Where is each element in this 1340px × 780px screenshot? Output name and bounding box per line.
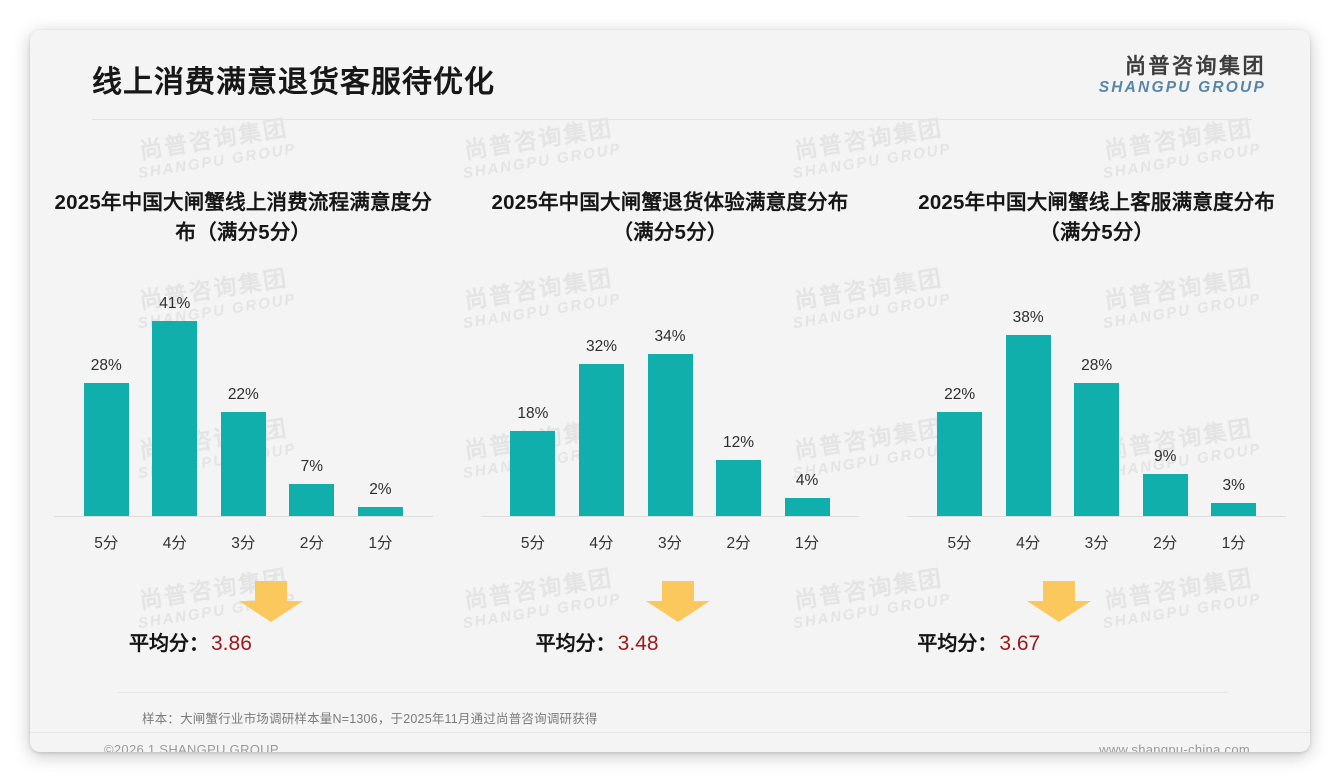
x-axis-tick-label: 3分 [1062,531,1131,553]
bar-group: 28%41%22%7%2% [72,283,415,517]
bar-value-label: 34% [654,328,685,346]
bar[interactable] [289,484,334,517]
bar-slot: 7% [278,283,347,517]
chart-plot-area: 28%41%22%7%2% [72,283,415,517]
bar[interactable] [221,412,266,517]
average-score-value: 3.86 [211,632,252,655]
chart-plot-area: 18%32%34%12%4% [499,283,842,517]
bar[interactable] [510,431,555,517]
bar-slot: 22% [209,283,278,517]
chart-plot-area: 22%38%28%9%3% [925,283,1268,517]
bar-value-label: 38% [1013,309,1044,327]
x-axis-tick-label: 5分 [72,531,141,553]
x-axis-line [54,516,433,517]
x-axis-tick-label: 3分 [636,531,705,553]
chart-title: 2025年中国大闸蟹线上消费流程满意度分布（满分5分） [44,142,443,249]
chart-title: 2025年中国大闸蟹线上客服满意度分布（满分5分） [897,142,1296,249]
bar-value-label: 3% [1223,477,1245,495]
average-score-text: 平均分：3.67 [917,627,1040,656]
bar-slot: 3% [1199,283,1268,517]
bar[interactable] [1006,335,1051,517]
x-axis-labels: 5分4分3分2分1分 [499,531,842,553]
arrow-head [239,601,303,622]
bar-slot: 34% [636,283,705,517]
brand-logo: 尚普咨询集团 SHANGPU GROUP [1099,55,1266,98]
slide-card: 尚普咨询集团SHANGPU GROUP尚普咨询集团SHANGPU GROUP尚普… [30,30,1310,752]
arrow-shaft [1043,581,1075,602]
chart-panel-2: 2025年中国大闸蟹退货体验满意度分布（满分5分）18%32%34%12%4%5… [457,142,884,667]
bar[interactable] [152,321,197,517]
bar-value-label: 22% [228,386,259,404]
bar[interactable] [579,364,624,517]
slide-header: 线上消费满意退货客服待优化 尚普咨询集团 SHANGPU GROUP [30,30,1310,119]
bar-value-label: 12% [723,434,754,452]
bar-slot: 38% [994,283,1063,517]
x-axis-labels: 5分4分3分2分1分 [72,531,415,553]
x-axis-tick-label: 4分 [567,531,636,553]
bar-slot: 28% [1062,283,1131,517]
bar-slot: 2% [346,283,415,517]
x-axis-tick-label: 2分 [1131,531,1200,553]
chart-title: 2025年中国大闸蟹退货体验满意度分布（满分5分） [471,142,870,249]
logo-chinese-text: 尚普咨询集团 [1099,55,1266,79]
average-score-block: 平均分：3.86 [44,581,443,667]
down-arrow-icon [239,581,303,621]
average-score-block: 平均分：3.48 [471,581,870,667]
bar-slot: 9% [1131,283,1200,517]
bar-slot: 32% [567,283,636,517]
header-divider [92,119,1252,120]
average-score-label: 平均分： [917,633,997,655]
x-axis-tick-label: 1分 [773,531,842,553]
chart-panel-3: 2025年中国大闸蟹线上客服满意度分布（满分5分）22%38%28%9%3%5分… [883,142,1310,667]
average-score-value: 3.48 [618,632,659,655]
bar[interactable] [1074,383,1119,517]
x-axis-labels: 5分4分3分2分1分 [925,531,1268,553]
average-score-block: 平均分：3.67 [897,581,1296,667]
footnote-divider [118,692,1228,693]
average-score-label: 平均分： [129,633,209,655]
bar-group: 22%38%28%9%3% [925,283,1268,517]
arrow-head [1027,601,1091,622]
bar-value-label: 2% [369,481,391,499]
x-axis-tick-label: 2分 [704,531,773,553]
x-axis-tick-label: 5分 [925,531,994,553]
bar-slot: 4% [773,283,842,517]
x-axis-tick-label: 2分 [278,531,347,553]
x-axis-tick-label: 5分 [499,531,568,553]
logo-english-text: SHANGPU GROUP [1099,79,1266,98]
down-arrow-icon [646,581,710,621]
x-axis-tick-label: 4分 [141,531,210,553]
chart-panel-1: 2025年中国大闸蟹线上消费流程满意度分布（满分5分）28%41%22%7%2%… [30,142,457,667]
bar-slot: 22% [925,283,994,517]
average-score-label: 平均分： [536,633,616,655]
bar[interactable] [785,498,830,517]
down-arrow-icon [1027,581,1091,621]
arrow-shaft [662,581,694,602]
footer-divider [30,732,1310,733]
bar[interactable] [1211,503,1256,517]
bar[interactable] [716,460,761,517]
bar-value-label: 7% [301,458,323,476]
bar-slot: 18% [499,283,568,517]
bar-value-label: 32% [586,338,617,356]
bar-value-label: 28% [91,357,122,375]
page-title: 线上消费满意退货客服待优化 [92,57,495,101]
charts-row: 2025年中国大闸蟹线上消费流程满意度分布（满分5分）28%41%22%7%2%… [30,142,1310,667]
average-score-text: 平均分：3.86 [129,627,252,656]
bar-slot: 28% [72,283,141,517]
bar[interactable] [84,383,129,517]
bar-slot: 12% [704,283,773,517]
bar-value-label: 22% [944,386,975,404]
footer-copyright: ©2026.1 SHANGPU GROUP [104,742,279,752]
average-score-value: 3.67 [999,632,1040,655]
arrow-shaft [255,581,287,602]
x-axis-line [481,516,860,517]
bar-value-label: 9% [1154,448,1176,466]
bar[interactable] [937,412,982,517]
sample-footnote: 样本：大闸蟹行业市场调研样本量N=1306，于2025年11月通过尚普咨询调研获… [142,708,598,727]
bar-value-label: 4% [796,472,818,490]
bar[interactable] [648,354,693,517]
footer-website[interactable]: www.shangpu-china.com [1099,742,1250,752]
arrow-head [646,601,710,622]
x-axis-tick-label: 3分 [209,531,278,553]
bar[interactable] [1143,474,1188,517]
x-axis-tick-label: 1分 [1199,531,1268,553]
bar-group: 18%32%34%12%4% [499,283,842,517]
x-axis-line [907,516,1286,517]
average-score-text: 平均分：3.48 [536,627,659,656]
bar-value-label: 28% [1081,357,1112,375]
x-axis-tick-label: 1分 [346,531,415,553]
bar-slot: 41% [141,283,210,517]
x-axis-tick-label: 4分 [994,531,1063,553]
bar-value-label: 18% [517,405,548,423]
bar-value-label: 41% [159,295,190,313]
